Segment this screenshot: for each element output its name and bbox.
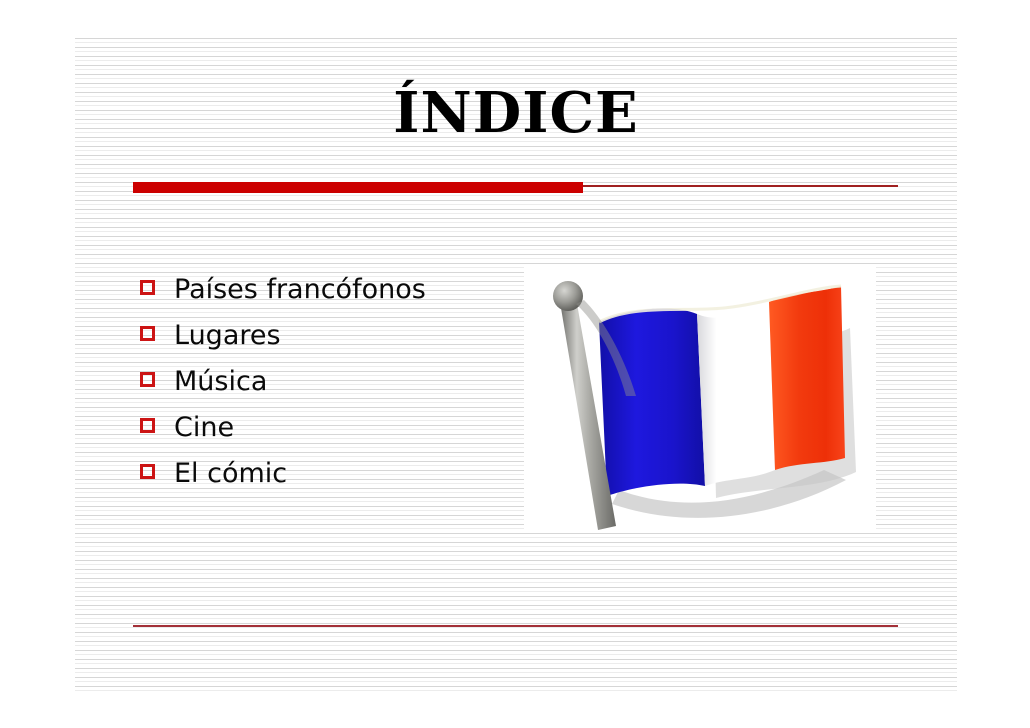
title-divider-accent-bar xyxy=(133,182,583,193)
page-title: ÍNDICE xyxy=(75,84,957,143)
index-bullet-list: Países francófonos Lugares Música Cine E… xyxy=(140,270,520,500)
french-flag-image xyxy=(524,264,876,530)
french-flag-icon xyxy=(524,264,876,530)
square-bullet-icon xyxy=(140,326,155,341)
list-item-label: Cine xyxy=(174,408,234,448)
list-item[interactable]: El cómic xyxy=(140,454,520,500)
list-item[interactable]: Cine xyxy=(140,408,520,454)
list-item-label: Lugares xyxy=(174,316,281,356)
title-divider xyxy=(133,181,898,193)
list-item[interactable]: Países francófonos xyxy=(140,270,520,316)
square-bullet-icon xyxy=(140,464,155,479)
list-item[interactable]: Música xyxy=(140,362,520,408)
list-item[interactable]: Lugares xyxy=(140,316,520,362)
slide-root: ÍNDICE Países francófonos Lugares Música… xyxy=(0,0,1030,728)
bottom-divider-rule xyxy=(133,625,898,627)
square-bullet-icon xyxy=(140,418,155,433)
list-item-label: Países francófonos xyxy=(174,270,426,310)
list-item-label: Música xyxy=(174,362,267,402)
square-bullet-icon xyxy=(140,372,155,387)
list-item-label: El cómic xyxy=(174,454,287,494)
square-bullet-icon xyxy=(140,280,155,295)
